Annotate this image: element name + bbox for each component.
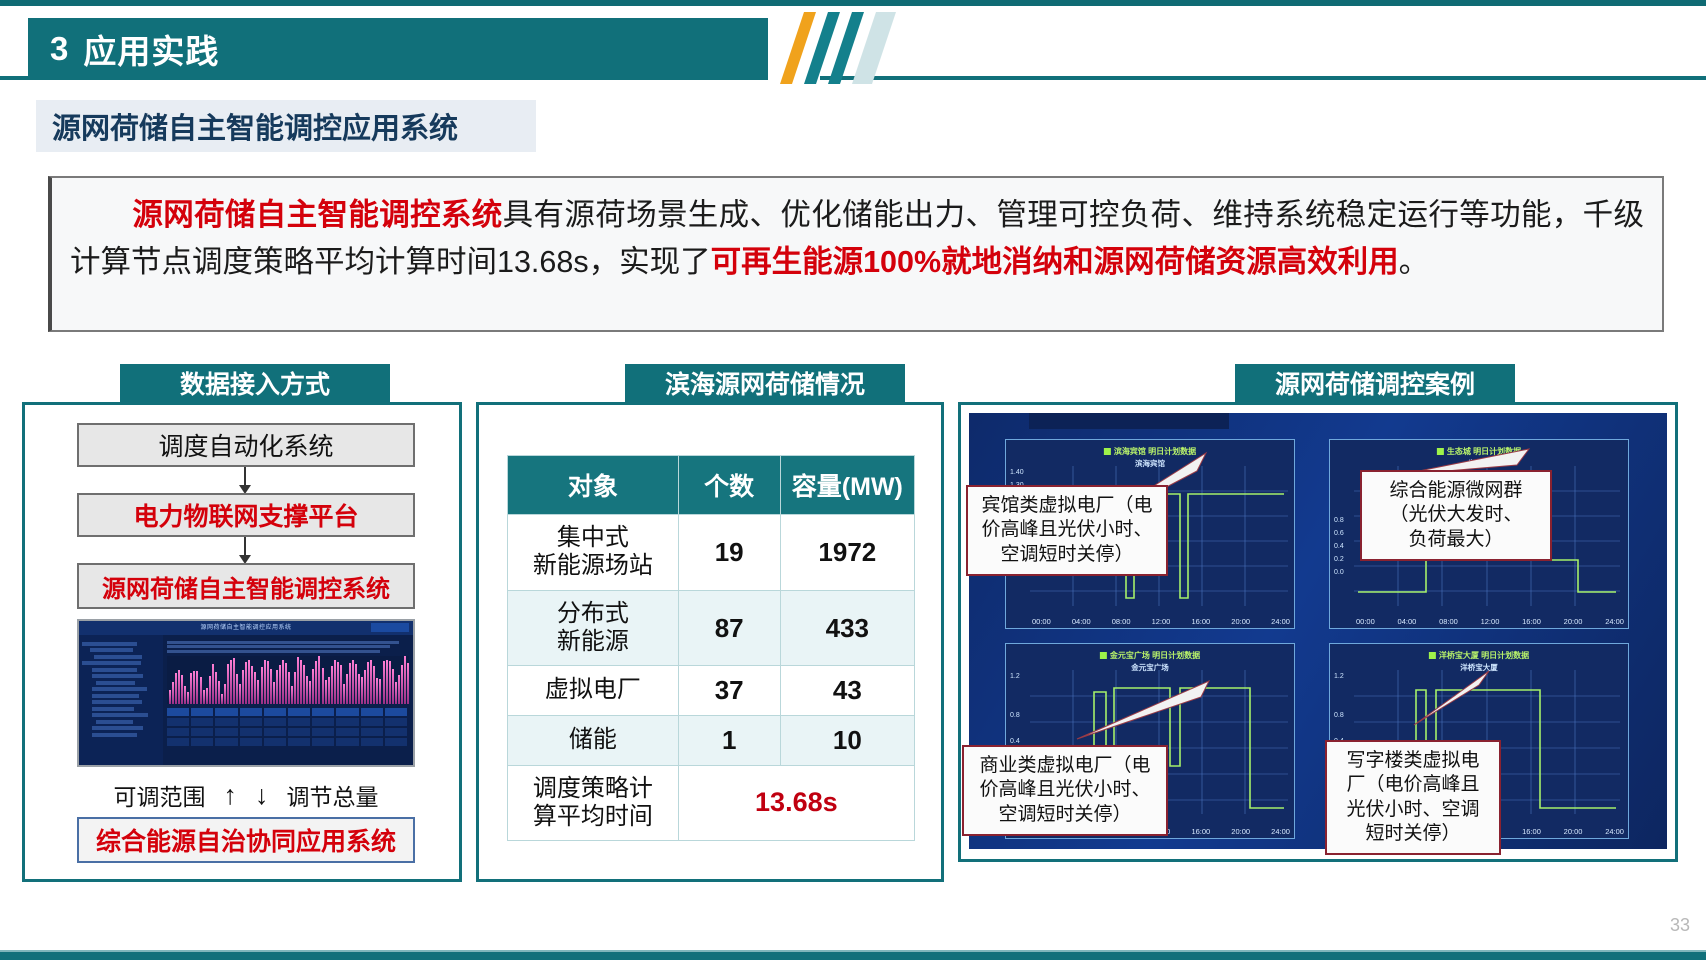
cell-capacity: 433 — [780, 590, 914, 666]
dashboard-title: 源网荷储自主智能调控应用系统 — [200, 622, 291, 631]
section-header-dispatch-case: 源网荷储调控案例 — [1235, 364, 1515, 402]
table-footer-row: 调度策略计算平均时间13.68s — [508, 765, 915, 841]
col-object: 对象 — [508, 456, 679, 515]
cell-object: 储能 — [508, 715, 679, 765]
callout-office-vpp: 写字楼类虚拟电 厂（电价高峰且 光伏小时、空调 短时关停） — [1325, 740, 1501, 855]
cell-object: 虚拟电厂 — [508, 666, 679, 716]
arrow-down-icon: ↓ — [255, 782, 269, 809]
bottom-accent-line — [0, 952, 1706, 960]
dashboard-badge — [371, 623, 409, 632]
table-row: 集中式新能源场站191972 — [508, 515, 915, 591]
flow-step-iot-platform: 电力物联网支撑平台 — [77, 493, 415, 537]
table-row: 分布式新能源87433 — [508, 590, 915, 666]
subtitle-banner: 源网荷储自主智能调控应用系统 — [36, 100, 536, 152]
cell-object: 分布式新能源 — [508, 590, 679, 666]
mini-chart-ecocity-yaxis: 0.80.60.40.20.0 — [1334, 514, 1344, 579]
cell-avg-time-label: 调度策略计算平均时间 — [508, 765, 679, 841]
title-rule-left — [0, 76, 28, 80]
section-header-binhai-status: 滨海源网荷储情况 — [625, 364, 905, 402]
resource-summary-table: 对象 个数 容量(MW) 集中式新能源场站191972分布式新能源87433虚拟… — [507, 455, 915, 841]
cell-count: 87 — [678, 590, 780, 666]
callout-commercial-vpp: 商业类虚拟电厂（电 价高峰且光伏小时、 空调短时关停） — [962, 745, 1168, 836]
page-number: 33 — [1670, 915, 1690, 936]
subtitle-text: 源网荷储自主智能调控应用系统 — [52, 105, 458, 147]
mini-chart-hotel-xaxis: 00:0004:0008:0012:0016:0020:0024:00 — [1032, 617, 1290, 626]
dashboard-main — [163, 635, 413, 767]
col-count: 个数 — [678, 456, 780, 515]
page-title: 应用实践 — [83, 25, 219, 73]
dashboard-sidebar — [79, 635, 163, 767]
binhai-status-panel: 对象 个数 容量(MW) 集中式新能源场站191972分布式新能源87433虚拟… — [476, 402, 944, 882]
data-access-panel: 调度自动化系统 电力物联网支撑平台 源网荷储自主智能调控系统 源网荷储自主智能调… — [22, 402, 462, 882]
table-header-row: 对象 个数 容量(MW) — [508, 456, 915, 515]
paragraph-lead-highlight: 源网荷储自主智能调控系统 — [132, 198, 503, 232]
mini-chart-ecocity-xaxis: 00:0004:0008:0012:0016:0020:0024:00 — [1356, 617, 1624, 626]
cell-object: 集中式新能源场站 — [508, 515, 679, 591]
callout-hotel-vpp: 宾馆类虚拟电厂（电 价高峰且光伏小时、 空调短时关停） — [966, 485, 1168, 576]
flow-arrow-1 — [244, 467, 246, 487]
section-number: 3 — [50, 30, 69, 68]
dashboard-header-bar: 源网荷储自主智能调控应用系统 — [79, 621, 413, 635]
cell-capacity: 10 — [780, 715, 914, 765]
dashboard-bar-chart — [167, 656, 409, 704]
cell-capacity: 1972 — [780, 515, 914, 591]
section-header-data-access: 数据接入方式 — [120, 364, 390, 402]
arrow-up-icon: ↑ — [224, 782, 238, 809]
mini-chart-hotel-legend: 滨海宾馆 明日计划数据 — [1104, 446, 1196, 457]
adjustment-legend-row: 可调范围 ↑ ↓ 调节总量 — [77, 777, 415, 813]
paragraph-highlight-2: 可再生能源100%就地消纳和源网荷储资源高效利用 — [711, 245, 1399, 279]
cell-count: 1 — [678, 715, 780, 765]
section-title-bar: 3 应用实践 — [28, 18, 768, 80]
cell-capacity: 43 — [780, 666, 914, 716]
mini-chart-mall-legend: 金元宝广场 明日计划数据 — [1100, 650, 1200, 661]
summary-paragraph-box: 源网荷储自主智能调控系统具有源荷场景生成、优化储能出力、管理可控负荷、维持系统稳… — [48, 176, 1664, 332]
dashboard-data-grid — [167, 708, 409, 746]
decorative-slashes-icon — [770, 6, 900, 84]
paragraph-tail: 。 — [1399, 245, 1430, 279]
title-rule-right — [820, 76, 1706, 80]
dashboard-screenshot-thumbnail: 源网荷储自主智能调控应用系统 — [77, 619, 415, 767]
adjustable-range-label: 可调范围 — [114, 778, 206, 812]
cell-avg-time-value: 13.68s — [678, 765, 914, 841]
flow-step-control-system: 源网荷储自主智能调控系统 — [77, 563, 415, 609]
flow-step-scheduling-automation: 调度自动化系统 — [77, 423, 415, 467]
table-row: 虚拟电厂3743 — [508, 666, 915, 716]
dashboard-body — [79, 635, 413, 767]
summary-paragraph: 源网荷储自主智能调控系统具有源荷场景生成、优化储能出力、管理可控负荷、维持系统稳… — [70, 192, 1644, 286]
total-adjustment-label: 调节总量 — [287, 778, 379, 812]
case-screenshot-topbar — [1029, 413, 1229, 429]
col-capacity: 容量(MW) — [780, 456, 914, 515]
table-row: 储能110 — [508, 715, 915, 765]
flow-arrow-2 — [244, 537, 246, 557]
mini-chart-ecocity-legend: 生态城 明日计划数据 — [1437, 446, 1521, 457]
table-body: 集中式新能源场站191972分布式新能源87433虚拟电厂3743储能110调度… — [508, 515, 915, 841]
flow-box-integrated-energy-system: 综合能源自治协同应用系统 — [77, 817, 415, 863]
cell-count: 37 — [678, 666, 780, 716]
callout-microgrid: 综合能源微网群 （光伏大发时、 负荷最大） — [1360, 470, 1552, 561]
mini-chart-office-legend: 洋桥宝大厦 明日计划数据 — [1429, 650, 1529, 661]
cell-count: 19 — [678, 515, 780, 591]
